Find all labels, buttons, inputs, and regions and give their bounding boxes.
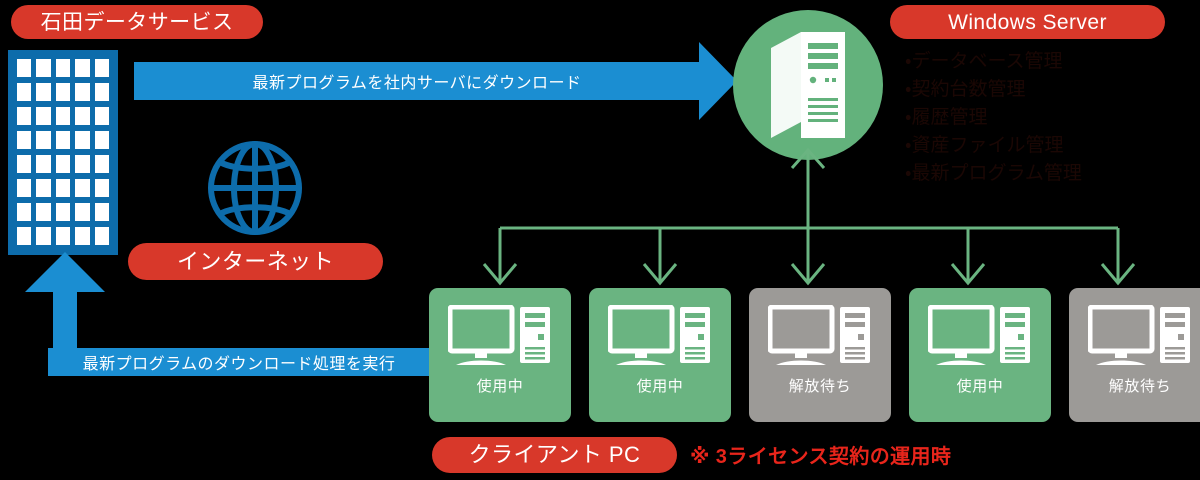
label-windows-server: Windows Server: [890, 5, 1165, 39]
server-note-item: ・資産ファイル管理: [905, 132, 1195, 160]
client-box[interactable]: 解放待ち: [749, 288, 891, 422]
client-box[interactable]: 使用中: [589, 288, 731, 422]
server-note-item: ・履歴管理: [905, 104, 1195, 132]
label-data-service: 石田データサービス: [11, 5, 263, 39]
client-box[interactable]: 解放待ち: [1069, 288, 1200, 422]
desktop-pc-icon: [448, 305, 552, 367]
arrow-return-head-icon: [25, 252, 105, 292]
desktop-pc-icon: [928, 305, 1032, 367]
client-state-label: 解放待ち: [789, 375, 851, 396]
client-state-label: 解放待ち: [1109, 375, 1171, 396]
label-internet: インターネット: [128, 243, 383, 280]
client-state-label: 使用中: [477, 375, 524, 396]
server-note-item: ・データベース管理: [905, 48, 1195, 76]
arrow-download-to-server: 最新プログラムを社内サーバにダウンロード: [134, 62, 700, 100]
desktop-pc-icon: [608, 305, 712, 367]
diagram-canvas: ・データベース管理 ・契約台数管理 ・履歴管理 ・資産ファイル管理 ・最新プログ…: [0, 0, 1200, 480]
server-note-item: ・契約台数管理: [905, 76, 1195, 104]
desktop-pc-icon: [1088, 305, 1192, 367]
arrow-execute-download: 最新プログラムのダウンロード処理を実行: [48, 348, 430, 376]
client-box[interactable]: 使用中: [909, 288, 1051, 422]
footnote-license-note: ※ 3ライセンス契約の運用時: [690, 440, 951, 469]
label-client-pc: クライアント PC: [432, 437, 677, 473]
server-tower-icon: [733, 10, 883, 160]
desktop-pc-icon: [768, 305, 872, 367]
server-node: [733, 10, 883, 160]
arrow-return-shaft: [53, 290, 77, 352]
office-building-icon: [8, 50, 118, 255]
globe-icon: [207, 140, 303, 236]
client-box[interactable]: 使用中: [429, 288, 571, 422]
building-windows: [17, 59, 109, 245]
server-note-item: ・最新プログラム管理: [905, 160, 1195, 188]
client-state-label: 使用中: [957, 375, 1004, 396]
arrow-execute-label: 最新プログラムのダウンロード処理を実行: [83, 350, 396, 374]
arrow-download-label: 最新プログラムを社内サーバにダウンロード: [253, 69, 582, 93]
server-notes-list: ・データベース管理 ・契約台数管理 ・履歴管理 ・資産ファイル管理 ・最新プログ…: [905, 48, 1195, 189]
arrow-download-head-icon: [699, 42, 737, 120]
client-state-label: 使用中: [637, 375, 684, 396]
